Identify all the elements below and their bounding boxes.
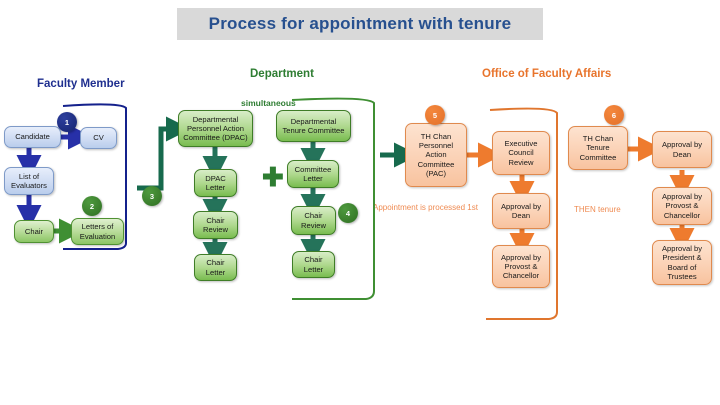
node-chair[interactable]: Chair xyxy=(14,220,54,243)
node-approval-by-president-board-of-trustees[interactable]: Approval by President & Board of Trustee… xyxy=(652,240,712,285)
node-dpac[interactable]: Departmental Personnel Action Committee … xyxy=(178,110,253,147)
node-pac[interactable]: TH Chan Personnel Action Committee (PAC) xyxy=(405,123,467,187)
node-candidate[interactable]: Candidate xyxy=(4,126,61,148)
node-list-of-evaluators[interactable]: List of Evaluators xyxy=(4,167,54,195)
node-dpac-chair-letter[interactable]: Chair Letter xyxy=(194,254,237,281)
node-tenure-chair-review[interactable]: Chair Review xyxy=(291,206,336,235)
plus-icon: ✚ xyxy=(262,164,284,190)
node-dpac-letter[interactable]: DPAC Letter xyxy=(194,169,237,197)
node-approval-by-provost-chancellor-tenure[interactable]: Approval by Provost & Chancellor xyxy=(652,187,712,225)
arrow-faculty-to-department xyxy=(137,129,176,188)
node-cv[interactable]: CV xyxy=(80,127,117,149)
connector-layer xyxy=(0,0,720,405)
step-badge-1: 1 xyxy=(57,112,77,132)
node-letters-of-evaluation[interactable]: Letters of Evaluation xyxy=(71,218,124,245)
node-dpac-chair-review[interactable]: Chair Review xyxy=(193,211,238,239)
node-approval-by-provost-chancellor-appointment[interactable]: Approval by Provost & Chancellor xyxy=(492,245,550,288)
node-departmental-tenure-committee[interactable]: Departmental Tenure Committee xyxy=(276,110,351,142)
step-badge-2: 2 xyxy=(82,196,102,216)
node-approval-by-dean-appointment[interactable]: Approval by Dean xyxy=(492,193,550,229)
node-executive-council-review[interactable]: Executive Council Review xyxy=(492,131,550,175)
node-approval-by-dean-tenure[interactable]: Approval by Dean xyxy=(652,131,712,168)
diagram-canvas: Process for appointment with tenure Facu… xyxy=(0,0,720,405)
step-badge-6: 6 xyxy=(604,105,624,125)
step-badge-3: 3 xyxy=(142,186,162,206)
node-tenure-chair-letter[interactable]: Chair Letter xyxy=(292,251,335,278)
node-committee-letter[interactable]: Committee Letter xyxy=(287,160,339,188)
step-badge-4: 4 xyxy=(338,203,358,223)
step-badge-5: 5 xyxy=(425,105,445,125)
node-th-chan-tenure-committee[interactable]: TH Chan Tenure Committee xyxy=(568,126,628,170)
